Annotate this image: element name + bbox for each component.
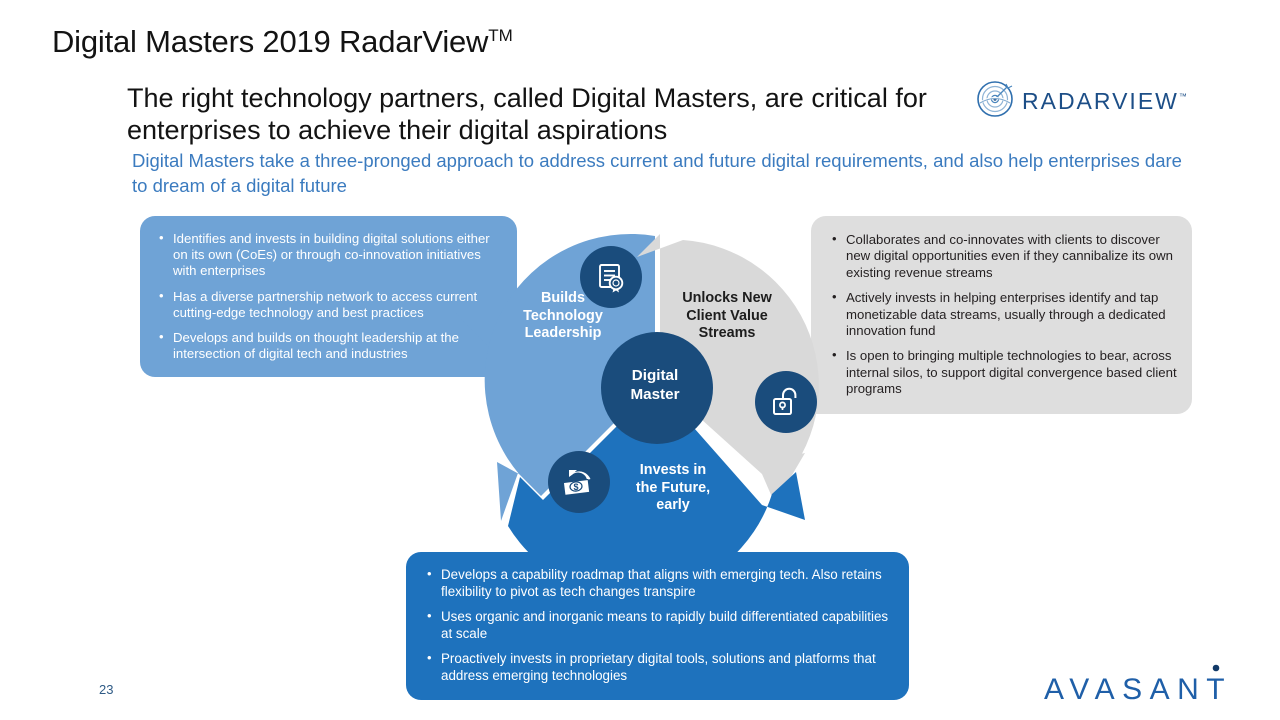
- radarview-logo: RADARVIEW™: [975, 80, 1203, 122]
- list-item: Uses organic and inorganic means to rapi…: [426, 609, 891, 642]
- list-item: Collaborates and co-innovates with clien…: [831, 232, 1178, 281]
- callout-unlocks-new-client-value-streams: Collaborates and co-innovates with clien…: [811, 216, 1192, 414]
- slide-title-text: Digital Masters 2019 RadarView: [52, 24, 488, 59]
- list-item: Proactively invests in proprietary digit…: [426, 651, 891, 684]
- segment-label-unlocks-new-client-value-streams: Unlocks New Client Value Streams: [662, 290, 792, 343]
- radar-target-icon: [975, 79, 1015, 124]
- list-item: Identifies and invests in building digit…: [158, 231, 501, 280]
- list-item: Actively invests in helping enterprises …: [831, 290, 1178, 339]
- slide-title: Digital Masters 2019 RadarViewTM: [52, 24, 513, 60]
- page-number: 23: [99, 682, 113, 697]
- trademark-superscript: TM: [488, 26, 513, 45]
- avasant-wordmark: AVASANT: [1044, 673, 1226, 705]
- avasant-logo: AVASANT: [1040, 657, 1226, 705]
- callout-bottom-list: Develops a capability roadmap that align…: [426, 567, 891, 685]
- radarview-trademark: ™: [1179, 92, 1187, 101]
- callout-builds-technology-leadership: Identifies and invests in building digit…: [140, 216, 517, 377]
- list-item: Has a diverse partnership network to acc…: [158, 289, 501, 321]
- callout-right-list: Collaborates and co-innovates with clien…: [831, 232, 1178, 398]
- list-item: Develops a capability roadmap that align…: [426, 567, 891, 600]
- list-item: Is open to bringing multiple technologie…: [831, 348, 1178, 397]
- headline: The right technology partners, called Di…: [127, 82, 957, 146]
- subheadline: Digital Masters take a three-pronged app…: [132, 148, 1192, 198]
- list-item: Develops and builds on thought leadershi…: [158, 330, 501, 362]
- certificate-award-icon: [580, 246, 642, 308]
- three-pronged-cycle-diagram: Builds Technology Leadership Unlocks New…: [478, 222, 842, 552]
- unlocked-padlock-icon: [755, 371, 817, 433]
- segment-label-invests-in-the-future-early: Invests in the Future, early: [618, 462, 728, 515]
- money-growth-icon: $: [548, 451, 610, 513]
- radarview-wordmark: RADARVIEW™: [1022, 88, 1187, 115]
- slide-canvas: Digital Masters 2019 RadarViewTM The rig…: [0, 0, 1280, 720]
- svg-text:$: $: [573, 482, 578, 492]
- callout-invests-in-the-future-early: Develops a capability roadmap that align…: [406, 552, 909, 700]
- callout-left-list: Identifies and invests in building digit…: [158, 231, 501, 362]
- center-label-digital-master: Digital Master: [591, 366, 719, 404]
